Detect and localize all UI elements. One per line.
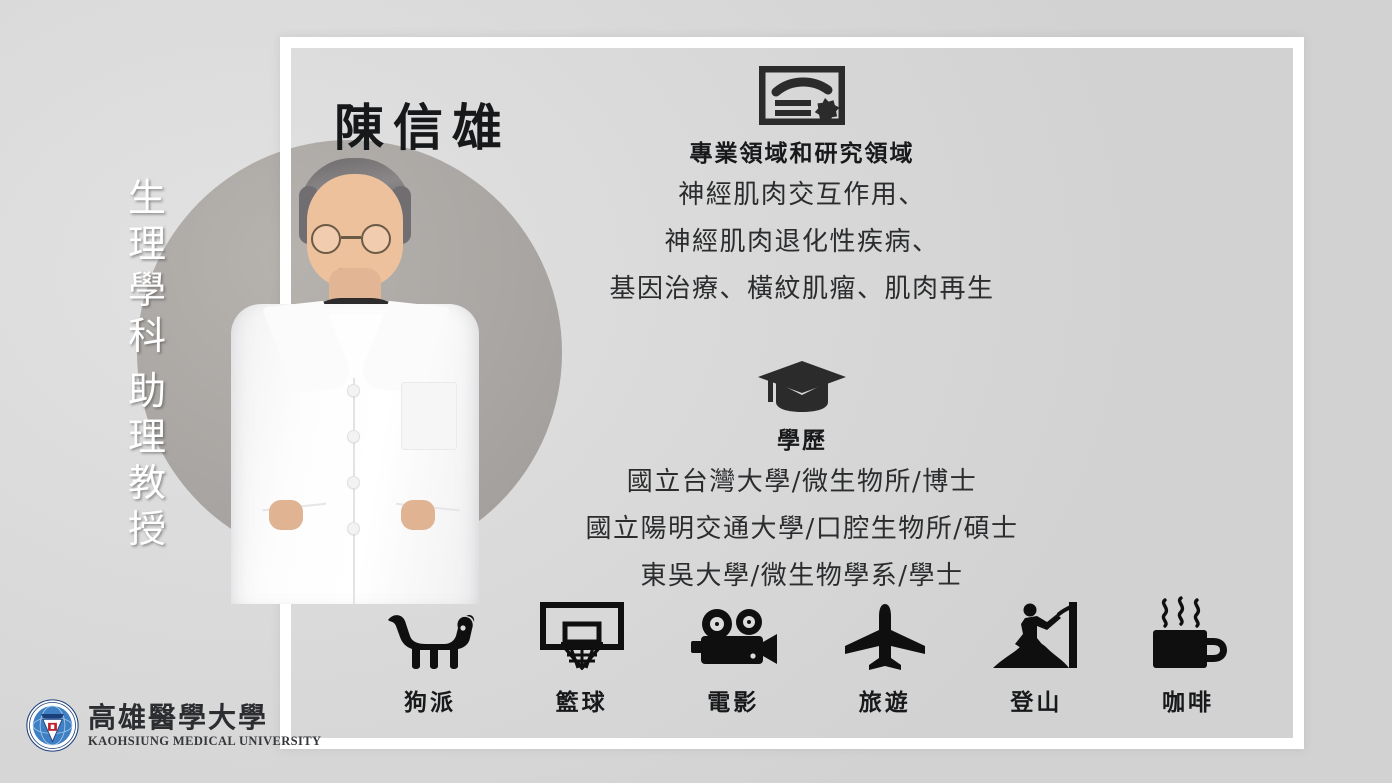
- department-title-char: 授: [128, 506, 166, 552]
- department-title-char: 學: [128, 267, 166, 313]
- university-name-cn: 高雄醫學大學: [88, 702, 321, 733]
- coffee-cup-icon: [1122, 592, 1254, 670]
- hobby-label: 電影: [667, 683, 799, 717]
- department-title-char: 生: [128, 175, 166, 221]
- expertise-section: 專業領域和研究領域 神經肌肉交互作用、 神經肌肉退化性疾病、 基因治療、橫紋肌瘤…: [300, 57, 1304, 313]
- hobby-item-basketball: 籃球: [516, 592, 648, 717]
- dog-icon: [364, 592, 496, 670]
- hobby-label: 籃球: [516, 683, 648, 717]
- education-line: 國立陽明交通大學/口腔生物所/碩士: [300, 506, 1304, 553]
- hobby-item-dog: 狗派: [364, 592, 496, 717]
- education-heading: 學歷: [300, 421, 1304, 455]
- education-section: 學歷 國立台灣大學/微生物所/博士 國立陽明交通大學/口腔生物所/碩士 東吳大學…: [300, 344, 1304, 600]
- hobbies-row: 狗派 籃球: [364, 592, 1254, 717]
- certificate-icon: [300, 57, 1304, 125]
- expertise-line: 基因治療、橫紋肌瘤、肌肉再生: [300, 266, 1304, 313]
- expertise-heading: 專業領域和研究領域: [300, 134, 1304, 168]
- basketball-hoop-icon: [516, 592, 648, 670]
- university-logo-text: 高雄醫學大學 KAOHSIUNG MEDICAL UNIVERSITY: [88, 702, 321, 749]
- portrait-hand-left: [269, 500, 303, 530]
- hobby-item-travel: 旅遊: [819, 592, 951, 717]
- hobby-item-hiking: 登山: [970, 592, 1102, 717]
- faculty-profile-slide: 生 理 學 科 助 理 教 授 陳信雄: [0, 0, 1392, 783]
- university-seal-icon: [26, 699, 79, 752]
- department-title-char: 科: [128, 313, 166, 359]
- department-title-char: 理: [128, 414, 166, 460]
- hobby-label: 登山: [970, 683, 1102, 717]
- department-title-char: 助: [128, 368, 166, 414]
- hobby-label: 旅遊: [819, 683, 951, 717]
- department-title-char: 理: [128, 221, 166, 267]
- hobby-label: 狗派: [364, 683, 496, 717]
- expertise-line: 神經肌肉退化性疾病、: [300, 219, 1304, 266]
- university-logo: 高雄醫學大學 KAOHSIUNG MEDICAL UNIVERSITY: [26, 699, 321, 752]
- hobby-item-coffee: 咖啡: [1122, 592, 1254, 717]
- graduation-cap-icon: [300, 344, 1304, 412]
- department-title-char: 教: [128, 460, 166, 506]
- hobby-item-movie: 電影: [667, 592, 799, 717]
- airplane-icon: [819, 592, 951, 670]
- education-line: 國立台灣大學/微生物所/博士: [300, 459, 1304, 506]
- mountain-climber-icon: [970, 592, 1102, 670]
- university-name-en: KAOHSIUNG MEDICAL UNIVERSITY: [88, 734, 321, 749]
- expertise-line: 神經肌肉交互作用、: [300, 172, 1304, 219]
- hobby-label: 咖啡: [1122, 683, 1254, 717]
- profile-content: 陳信雄 專業領域和研究領域 神經肌肉交互作用、 神經肌肉退化性疾病、 基因治療、…: [300, 37, 1304, 749]
- movie-camera-icon: [667, 592, 799, 670]
- department-title-vertical: 生 理 學 科 助 理 教 授: [116, 175, 178, 552]
